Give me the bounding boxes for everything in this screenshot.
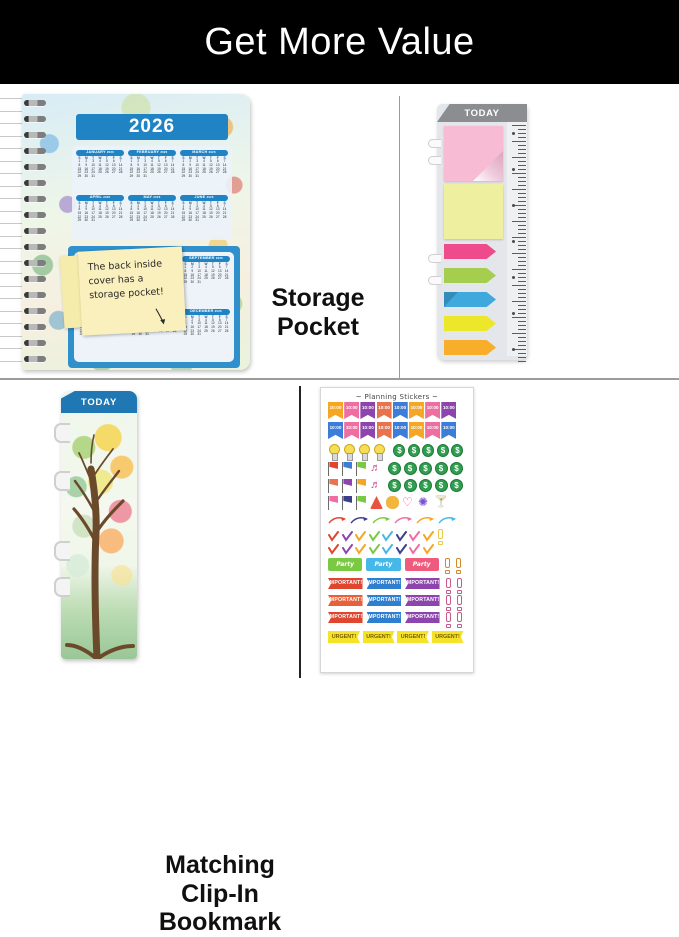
storage-pocket-caption: Storage Pocket	[238, 284, 398, 341]
important-label-sticker: IMPORTANT!	[405, 595, 440, 606]
vertical-divider-bottom	[299, 386, 301, 678]
pad-curled-corner	[473, 151, 503, 181]
sticky-note-text: The back inside cover has a storage pock…	[87, 257, 177, 303]
flag-fold-corner	[444, 292, 458, 307]
checkmark-icon	[369, 529, 380, 540]
calendar-months-upper: JANUARY 2026SMTWTFS123456789101112131415…	[72, 146, 232, 240]
header-banner: Get More Value	[0, 0, 679, 84]
exclamation-mark-icon	[444, 612, 452, 628]
lightbulb-icon	[343, 444, 353, 460]
checkmark-icon	[423, 542, 434, 553]
time-banner-sticker: 10:00	[425, 422, 440, 439]
party-label-sticker: Party	[366, 558, 400, 571]
calendar-month: SEPTEMBER 2026SMTWTFS1234567891011121314…	[182, 256, 230, 306]
caption-line-1: Matching	[140, 851, 300, 880]
sticker-row: ♡✺🍸	[328, 496, 466, 510]
time-banner-sticker: 10:00	[328, 402, 343, 419]
sticker-row: $$$$$	[328, 444, 466, 460]
sticky-note-front: The back inside cover has a storage pock…	[78, 246, 186, 335]
money-coin-icon: $	[404, 462, 417, 475]
important-label-sticker: IMPORTANT!	[328, 578, 363, 589]
urgent-label-sticker: URGENT!	[397, 631, 429, 643]
time-banner-sticker: 10:00	[425, 402, 440, 419]
pennant-flag-icon	[342, 479, 354, 493]
calendar-month: MAY 2026SMTWTFS1234567891011121314151617…	[128, 195, 176, 237]
bookmark-clip	[54, 577, 68, 593]
party-label-sticker: Party	[328, 558, 362, 571]
exclamation-mark-icon	[454, 558, 463, 574]
money-coin-icon: $	[419, 479, 432, 492]
calendar-month: DECEMBER 2026SMTWTFS12345678910111213141…	[182, 309, 230, 359]
money-coin-icon: $	[388, 479, 401, 492]
time-banner-sticker: 10:00	[441, 422, 456, 439]
bookmark-caption: Matching Clip-In Bookmark	[140, 851, 300, 937]
money-coin-icon: $	[451, 444, 463, 457]
exclamation-mark-icon	[443, 558, 452, 574]
month-days: 1234567891011121314151617181920212223242…	[182, 266, 230, 284]
ruler-today-tab: TODAY	[437, 104, 527, 122]
month-days: 1234567891011121314151617181920212223242…	[128, 205, 176, 223]
money-coin-icon: $	[435, 462, 448, 475]
horizontal-divider	[0, 378, 679, 380]
calendar-month: JUNE 2026SMTWTFS123456789101112131415161…	[180, 195, 228, 237]
money-coin-icon: $	[437, 444, 449, 457]
sticker-row: 10:0010:0010:0010:0010:0010:0010:0010:00	[328, 422, 466, 439]
caption-line-1: Storage	[238, 284, 398, 313]
exclamation-mark-icon	[455, 578, 463, 594]
calendar-month: JANUARY 2026SMTWTFS123456789101112131415…	[76, 150, 124, 192]
time-banner-sticker: 10:00	[409, 402, 424, 419]
sticker-sheet-title: ~ Planning Stickers ~	[321, 393, 473, 401]
time-banner-sticker: 10:00	[441, 402, 456, 419]
important-label-sticker: IMPORTANT!	[328, 595, 363, 606]
time-banner-sticker: 10:00	[409, 422, 424, 439]
arrow-sticker-icon	[350, 515, 370, 525]
month-name: JUNE 2026	[180, 195, 228, 201]
sticker-row: 10:0010:0010:0010:0010:0010:0010:0010:00	[328, 402, 466, 419]
pennant-flag-icon	[328, 479, 340, 493]
checkmark-icon	[423, 529, 434, 540]
green-flag	[444, 268, 496, 283]
exclamation-mark-icon	[455, 612, 463, 628]
sticker-row: IMPORTANT!IMPORTANT!IMPORTANT!	[328, 595, 466, 611]
urgent-label-sticker: URGENT!	[432, 631, 464, 643]
time-banner-sticker: 10:00	[344, 402, 359, 419]
arrow-sticker-icon	[438, 515, 458, 525]
money-coin-icon: $	[435, 479, 448, 492]
spiral-binding	[22, 94, 48, 370]
time-banner-sticker: 10:00	[377, 422, 392, 439]
checkmark-icon	[396, 542, 407, 553]
time-banner-sticker: 10:00	[360, 422, 375, 439]
calendar-month: APRIL 2026SMTWTFS12345678910111213141516…	[76, 195, 124, 237]
important-label-sticker: IMPORTANT!	[367, 578, 402, 589]
pennant-flag-icon	[342, 462, 354, 476]
exclamation-mark-icon	[444, 578, 452, 594]
bookmark-clip	[54, 541, 68, 557]
time-banner-sticker: 10:00	[328, 422, 343, 439]
page-title: Get More Value	[204, 21, 474, 64]
month-name: DECEMBER 2026	[182, 309, 230, 315]
music-note-icon: ♬	[370, 462, 381, 474]
bookmark-image: TODAY	[61, 391, 137, 659]
checkmark-icon	[369, 542, 380, 553]
money-coin-icon: $	[419, 462, 432, 475]
money-coin-icon: $	[408, 444, 420, 457]
ruler-scale	[507, 122, 527, 356]
yellow-sticky-pad	[444, 184, 503, 239]
month-days: 1234567891011121314151617181920212223242…	[76, 205, 124, 223]
pennant-flag-icon	[356, 462, 368, 476]
time-banner-sticker: 10:00	[393, 422, 408, 439]
important-label-sticker: IMPORTANT!	[405, 578, 440, 589]
sticker-row	[328, 542, 466, 553]
lightbulb-icon	[373, 444, 383, 460]
bookmark-clip	[54, 423, 68, 439]
pennant-flag-icon	[356, 479, 368, 493]
month-days: 1234567891011121314151617181920212223242…	[128, 160, 176, 178]
checkmark-icon	[409, 542, 420, 553]
month-name: MAY 2026	[128, 195, 176, 201]
pennant-flag-icon	[342, 496, 354, 510]
calendar-month: MARCH 2026SMTWTFS12345678910111213141516…	[180, 150, 228, 192]
exclamation-mark-icon	[455, 595, 463, 611]
party-label-sticker: Party	[405, 558, 439, 571]
pennant-flag-icon	[328, 496, 340, 510]
panel-sticky-notes-ruler: TODAY 175Sticky Notes + Ruler	[401, 86, 679, 377]
caption-line-2: Pocket	[238, 313, 398, 342]
panel-clip-in-bookmark: TODAY Matching Clip-In Bookmark	[0, 381, 298, 678]
time-banner-sticker: 10:00	[360, 402, 375, 419]
panel-planning-stickers: ~ Planning Stickers ~ 10:0010:0010:0010:…	[302, 381, 679, 678]
important-label-sticker: IMPORTANT!	[328, 612, 363, 623]
pink-flag	[444, 244, 496, 259]
month-days: 1234567891011121314151617181920212223242…	[182, 319, 230, 337]
money-coin-icon: $	[422, 444, 434, 457]
time-banner-sticker: 10:00	[344, 422, 359, 439]
pink-sticky-pad	[444, 126, 503, 181]
sticker-row: IMPORTANT!IMPORTANT!IMPORTANT!	[328, 578, 466, 594]
arrow-icon	[153, 307, 168, 326]
arrow-sticker-icon	[394, 515, 414, 525]
urgent-label-sticker: URGENT!	[363, 631, 395, 643]
money-coin-icon: $	[404, 479, 417, 492]
sticker-row: IMPORTANT!IMPORTANT!IMPORTANT!	[328, 612, 466, 628]
sticker-row: PartyPartyParty	[328, 558, 466, 574]
sticker-row: ♬$$$$$	[328, 462, 466, 476]
panel-storage-pocket: 2026 JANUARY 2026SMTWTFS1234567891011121…	[0, 86, 398, 377]
arrow-sticker-icon	[328, 515, 348, 525]
month-days: 1234567891011121314151617181920212223242…	[180, 205, 228, 223]
tree-trunk-icon	[61, 413, 137, 659]
heart-icon: ♡	[402, 496, 415, 508]
important-label-sticker: IMPORTANT!	[405, 612, 440, 623]
checkmark-icon	[355, 542, 366, 553]
checkmark-icon	[409, 529, 420, 540]
paper-edge-lines	[0, 94, 24, 370]
calendar-year-banner: 2026	[76, 114, 228, 140]
checkmark-icon	[382, 542, 393, 553]
caption-line-2: Clip-In	[140, 880, 300, 909]
time-banner-sticker: 10:00	[377, 402, 392, 419]
arrow-sticker-icon	[416, 515, 436, 525]
sticker-row	[328, 515, 466, 525]
orange-flag	[444, 340, 496, 355]
pennant-flag-icon	[328, 462, 340, 476]
money-coin-icon: $	[450, 462, 463, 475]
sticker-row: ♬$$$$$	[328, 479, 466, 493]
checkmark-icon	[355, 529, 366, 540]
important-label-sticker: IMPORTANT!	[367, 595, 402, 606]
music-note-icon: ♬	[370, 479, 381, 491]
checkmark-icon	[328, 542, 339, 553]
exclamation-mark-icon	[444, 595, 452, 611]
calendar-month: FEBRUARY 2026SMTWTFS12345678910111213141…	[128, 150, 176, 192]
checkmark-icon	[342, 542, 353, 553]
cocktail-glass-icon: 🍸	[434, 496, 447, 509]
checkmark-icon	[396, 529, 407, 540]
caption-line-3: Bookmark	[140, 908, 300, 937]
money-coin-icon: $	[388, 462, 401, 475]
arrow-sticker-icon	[372, 515, 392, 525]
bookmark-today-tab: TODAY	[61, 391, 137, 413]
sparkle-icon: ✺	[418, 496, 431, 509]
month-days: 1234567891011121314151617181920212223242…	[180, 160, 228, 178]
pennant-flag-icon	[356, 496, 368, 510]
important-label-sticker: IMPORTANT!	[367, 612, 402, 623]
lightbulb-icon	[328, 444, 338, 460]
checkmark-icon	[328, 529, 339, 540]
sticker-sheet: ~ Planning Stickers ~ 10:0010:0010:0010:…	[320, 387, 474, 673]
money-coin-icon: $	[393, 444, 405, 457]
sticky-note-ruler: TODAY	[437, 104, 527, 360]
tree-watercolor-art	[61, 413, 137, 659]
vertical-divider-top	[399, 96, 400, 378]
lightbulb-icon	[358, 444, 368, 460]
pineapple-icon	[386, 496, 399, 509]
checkmark-icon	[382, 529, 393, 540]
urgent-label-sticker: URGENT!	[328, 631, 360, 643]
blue-flag	[444, 292, 496, 307]
month-name: APRIL 2026	[76, 195, 124, 201]
yellow-flag	[444, 316, 496, 331]
month-days: 1234567891011121314151617181920212223242…	[76, 160, 124, 178]
bookmark-clip	[54, 471, 68, 487]
sticker-row: URGENT!URGENT!URGENT!URGENT!	[328, 631, 466, 643]
time-banner-sticker: 10:00	[393, 402, 408, 419]
checkmark-icon	[342, 529, 353, 540]
watermelon-icon	[370, 496, 383, 509]
money-coin-icon: $	[450, 479, 463, 492]
